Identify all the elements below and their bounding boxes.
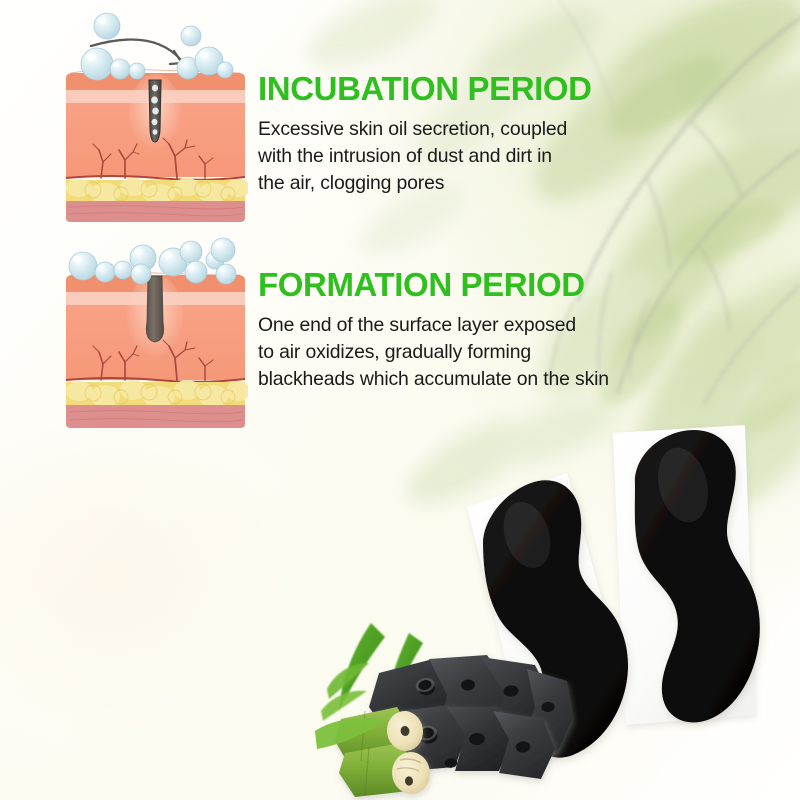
body-line: to air oxidizes, gradually forming bbox=[258, 339, 704, 366]
body-line: the air, clogging pores bbox=[258, 170, 704, 197]
muscle-layer bbox=[66, 201, 245, 222]
section-formation: FORMATION PERIOD One end of the surface … bbox=[258, 268, 704, 393]
product-photo-charcoal-bamboo bbox=[305, 615, 580, 800]
body-formation-period: One end of the surface layer exposed to … bbox=[258, 312, 704, 393]
fat-layer bbox=[66, 178, 248, 204]
muscle-layer bbox=[66, 405, 245, 428]
blackhead-plug bbox=[127, 274, 183, 358]
fat-layer bbox=[66, 380, 248, 408]
diagram-incubation-clogged-pore bbox=[63, 4, 248, 226]
body-line: blackheads which accumulate on the skin bbox=[258, 366, 704, 393]
heading-incubation-period: INCUBATION PERIOD bbox=[258, 72, 704, 107]
body-line: with the intrusion of dust and dirt in bbox=[258, 143, 704, 170]
heading-formation-period: FORMATION PERIOD bbox=[258, 268, 704, 303]
section-incubation: INCUBATION PERIOD Excessive skin oil sec… bbox=[258, 72, 704, 197]
body-line: Excessive skin oil secretion, coupled bbox=[258, 116, 704, 143]
infographic-page: INCUBATION PERIOD Excessive skin oil sec… bbox=[0, 0, 800, 800]
clogged-pore bbox=[129, 74, 181, 150]
body-incubation-period: Excessive skin oil secretion, coupled wi… bbox=[258, 116, 704, 197]
diagram-formation-blackhead-plug bbox=[63, 230, 248, 435]
body-line: One end of the surface layer exposed bbox=[258, 312, 704, 339]
